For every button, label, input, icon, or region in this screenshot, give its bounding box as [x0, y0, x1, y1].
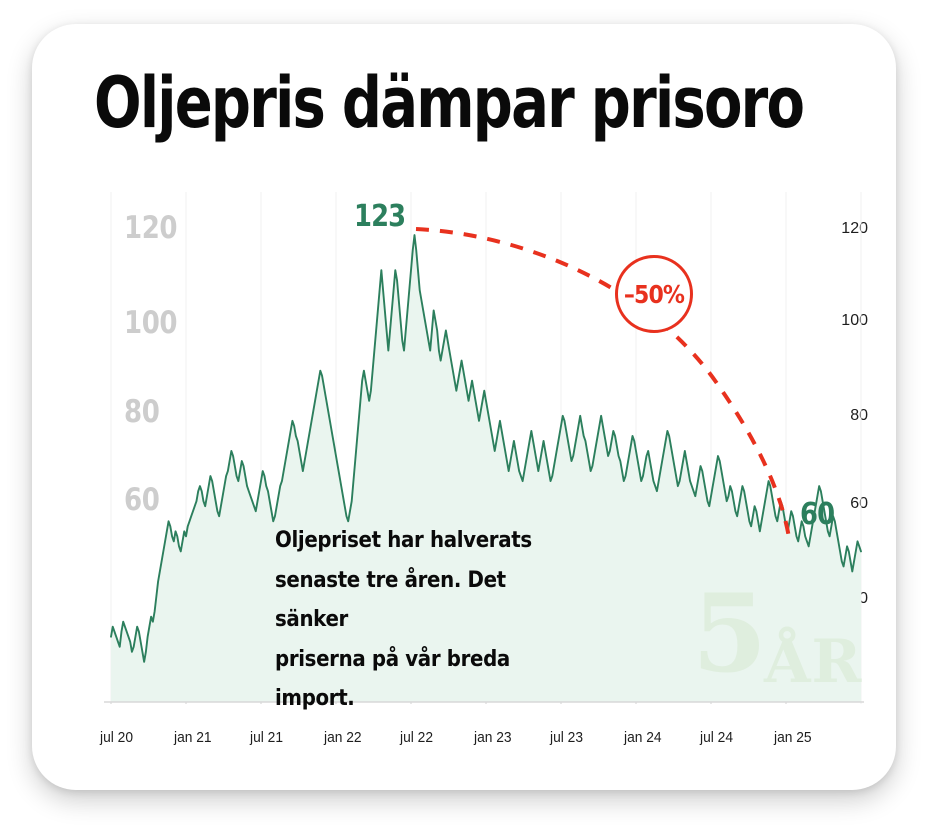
- x-axis-label-1: jan 21: [174, 729, 212, 746]
- x-axis-label-2: jul 21: [250, 729, 283, 746]
- x-axis-label-9: jan 25: [774, 729, 812, 746]
- annotation-line-3: priserna på vår breda import.: [275, 640, 574, 719]
- x-axis-label-5: jan 23: [474, 729, 512, 746]
- decline-badge: –50%: [615, 255, 693, 333]
- x-axis-label-0: jul 20: [100, 729, 133, 746]
- screenshot-root: Oljepris dämpar prisoro 5 ÅR 120 100 80 …: [0, 0, 950, 830]
- x-axis-label-7: jan 24: [624, 729, 662, 746]
- annotation-text: Oljepriset har halverats senaste tre åre…: [275, 521, 574, 719]
- x-axis-label-3: jan 22: [324, 729, 362, 746]
- chart-card: Oljepris dämpar prisoro 5 ÅR 120 100 80 …: [32, 24, 896, 790]
- x-axis-label-8: jul 24: [700, 729, 733, 746]
- end-value-label: 60: [800, 497, 834, 532]
- page-title: Oljepris dämpar prisoro: [94, 68, 702, 138]
- decline-badge-label: –50%: [622, 258, 685, 330]
- annotation-line-2: senaste tre åren. Det sänker: [275, 561, 574, 640]
- peak-value-label: 123: [354, 199, 405, 234]
- x-axis-label-6: jul 23: [550, 729, 583, 746]
- annotation-line-1: Oljepriset har halverats: [275, 521, 574, 561]
- x-axis-label-4: jul 22: [400, 729, 433, 746]
